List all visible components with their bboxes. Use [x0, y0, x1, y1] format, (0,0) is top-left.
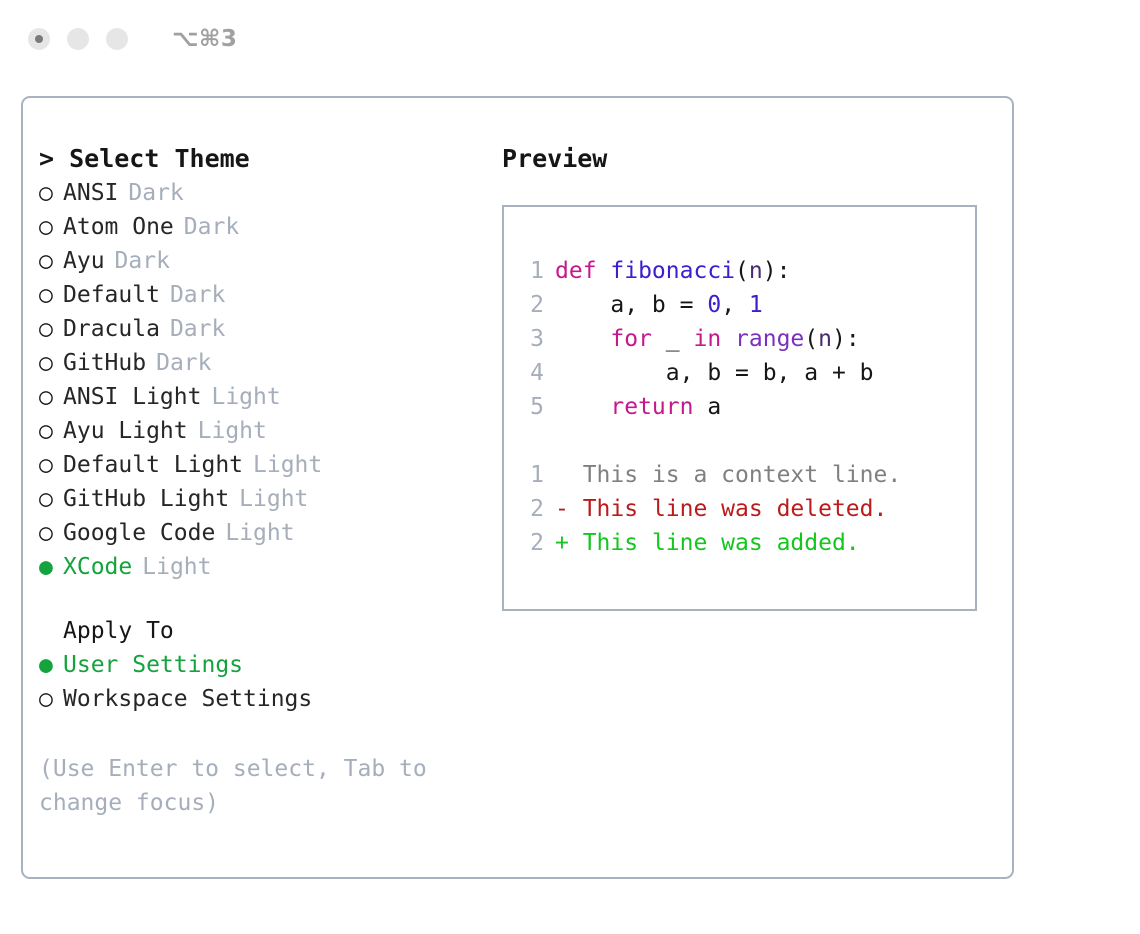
code-token: def [555, 258, 610, 284]
diff-text: This line was deleted. [569, 492, 888, 526]
code-sample: 1def fibonacci(n):2 a, b = 0, 13 for _ i… [516, 254, 969, 424]
theme-category: Dark [170, 312, 225, 346]
radio-unselected-icon[interactable]: ○ [39, 448, 63, 482]
theme-name: Google Code [63, 516, 215, 550]
app-window: ⌥⌘3 > Select Theme ○ANSIDark○Atom OneDar… [0, 0, 1140, 934]
diff-sign: + [555, 526, 569, 560]
code-token: range [735, 326, 804, 352]
code-line: 2 a, b = 0, 1 [516, 288, 969, 322]
code-token: return [610, 394, 693, 420]
radio-unselected-icon[interactable]: ○ [39, 482, 63, 516]
theme-option-row[interactable]: ○Ayu LightLight [39, 414, 489, 448]
theme-name: GitHub Light [63, 482, 229, 516]
line-number: 2 [516, 288, 544, 322]
theme-category: Light [211, 380, 280, 414]
code-token [721, 326, 735, 352]
code-token: ): [763, 258, 791, 284]
apply-to-label: User Settings [63, 648, 243, 682]
theme-option-row[interactable]: ○AyuDark [39, 244, 489, 278]
select-theme-header: > Select Theme [39, 142, 489, 176]
theme-option-row[interactable]: ○Default LightLight [39, 448, 489, 482]
line-number: 2 [516, 492, 544, 526]
line-number: 5 [516, 390, 544, 424]
radio-unselected-icon[interactable]: ○ [39, 312, 63, 346]
radio-unselected-icon[interactable]: ○ [39, 176, 63, 210]
code-token: fibonacci [610, 258, 735, 284]
theme-list: ○ANSIDark○Atom OneDark○AyuDark○DefaultDa… [39, 176, 489, 584]
theme-option-row[interactable]: ○GitHubDark [39, 346, 489, 380]
theme-category: Light [142, 550, 211, 584]
radio-unselected-icon[interactable]: ○ [39, 244, 63, 278]
theme-category: Dark [170, 278, 225, 312]
theme-picker-dialog: > Select Theme ○ANSIDark○Atom OneDark○Ay… [21, 96, 1014, 879]
code-preview-box: 1def fibonacci(n):2 a, b = 0, 13 for _ i… [502, 205, 977, 611]
code-token: ( [735, 258, 749, 284]
radio-unselected-icon[interactable]: ○ [39, 380, 63, 414]
code-token: for [610, 326, 652, 352]
theme-option-row[interactable]: ○ANSI LightLight [39, 380, 489, 414]
radio-selected-icon[interactable]: ● [39, 550, 63, 584]
title-bar: ⌥⌘3 [0, 0, 1140, 78]
radio-unselected-icon[interactable]: ○ [39, 210, 63, 244]
diff-line: 2+ This line was added. [516, 526, 969, 560]
code-token: a [693, 394, 721, 420]
line-number: 1 [516, 458, 544, 492]
line-number: 2 [516, 526, 544, 560]
code-token: ( [804, 326, 818, 352]
theme-name: ANSI Light [63, 380, 201, 414]
theme-option-row[interactable]: ○DefaultDark [39, 278, 489, 312]
window-controls [28, 28, 128, 50]
radio-selected-icon[interactable]: ● [39, 648, 63, 682]
theme-option-row[interactable]: ○ANSIDark [39, 176, 489, 210]
theme-category: Dark [184, 210, 239, 244]
theme-name: XCode [63, 550, 132, 584]
preview-header: Preview [502, 142, 992, 176]
line-number: 1 [516, 254, 544, 288]
radio-unselected-icon[interactable]: ○ [39, 414, 63, 448]
code-line: 5 return a [516, 390, 969, 424]
theme-name: Atom One [63, 210, 174, 244]
diff-sign [555, 458, 569, 492]
code-text: a, b = 0, 1 [555, 288, 763, 322]
theme-category: Dark [115, 244, 170, 278]
theme-category: Light [198, 414, 267, 448]
theme-option-row[interactable]: ○GitHub LightLight [39, 482, 489, 516]
theme-name: Ayu [63, 244, 105, 278]
code-token [555, 326, 610, 352]
code-token: a, b = [555, 292, 707, 318]
code-token: , [721, 292, 749, 318]
code-token: 1 [749, 292, 763, 318]
apply-to-header: Apply To [39, 614, 489, 648]
code-token: in [693, 326, 721, 352]
theme-name: Ayu Light [63, 414, 188, 448]
window-maximize-button[interactable] [106, 28, 128, 50]
theme-category: Light [225, 516, 294, 550]
radio-unselected-icon[interactable]: ○ [39, 278, 63, 312]
theme-name: Dracula [63, 312, 160, 346]
diff-line: 1 This is a context line. [516, 458, 969, 492]
code-line: 4 a, b = b, a + b [516, 356, 969, 390]
code-text: a, b = b, a + b [555, 356, 874, 390]
window-minimize-button[interactable] [67, 28, 89, 50]
code-text: def fibonacci(n): [555, 254, 790, 288]
radio-unselected-icon[interactable]: ○ [39, 346, 63, 380]
apply-to-option-row[interactable]: ●User Settings [39, 648, 489, 682]
code-diff-separator [516, 424, 969, 458]
diff-sign: - [555, 492, 569, 526]
theme-option-row[interactable]: ○DraculaDark [39, 312, 489, 346]
code-token [555, 394, 610, 420]
apply-to-label: Workspace Settings [63, 682, 312, 716]
theme-option-row[interactable]: ○Google CodeLight [39, 516, 489, 550]
apply-to-option-row[interactable]: ○Workspace Settings [39, 682, 489, 716]
diff-text: This is a context line. [569, 458, 901, 492]
code-token: a, b = b, a + b [555, 360, 874, 386]
keyboard-hint: (Use Enter to select, Tab to change focu… [39, 752, 439, 820]
theme-category: Dark [128, 176, 183, 210]
radio-unselected-icon[interactable]: ○ [39, 516, 63, 550]
diff-sample: 1 This is a context line.2- This line wa… [516, 458, 969, 560]
active-indicator-dot [35, 35, 43, 43]
code-token: n [749, 258, 763, 284]
line-number: 4 [516, 356, 544, 390]
theme-list-pane: > Select Theme ○ANSIDark○Atom OneDark○Ay… [39, 142, 489, 820]
theme-category: Dark [156, 346, 211, 380]
theme-name: Default [63, 278, 160, 312]
code-text: return a [555, 390, 721, 424]
keyboard-shortcut-label: ⌥⌘3 [172, 26, 237, 52]
apply-to-list: ●User Settings○Workspace Settings [39, 648, 489, 716]
code-line: 3 for _ in range(n): [516, 322, 969, 356]
preview-pane: Preview 1def fibonacci(n):2 a, b = 0, 13… [502, 142, 992, 611]
code-text: for _ in range(n): [555, 322, 860, 356]
code-line: 1def fibonacci(n): [516, 254, 969, 288]
diff-line: 2- This line was deleted. [516, 492, 969, 526]
radio-unselected-icon[interactable]: ○ [39, 682, 63, 716]
theme-option-row[interactable]: ●XCodeLight [39, 550, 489, 584]
theme-name: Default Light [63, 448, 243, 482]
code-token: 0 [707, 292, 721, 318]
theme-option-row[interactable]: ○Atom OneDark [39, 210, 489, 244]
line-number: 3 [516, 322, 544, 356]
window-close-button[interactable] [28, 28, 50, 50]
diff-text: This line was added. [569, 526, 860, 560]
theme-name: ANSI [63, 176, 118, 210]
theme-category: Light [253, 448, 322, 482]
theme-name: GitHub [63, 346, 146, 380]
code-token: _ [652, 326, 694, 352]
code-token: ): [832, 326, 860, 352]
code-token: n [818, 326, 832, 352]
theme-category: Light [239, 482, 308, 516]
